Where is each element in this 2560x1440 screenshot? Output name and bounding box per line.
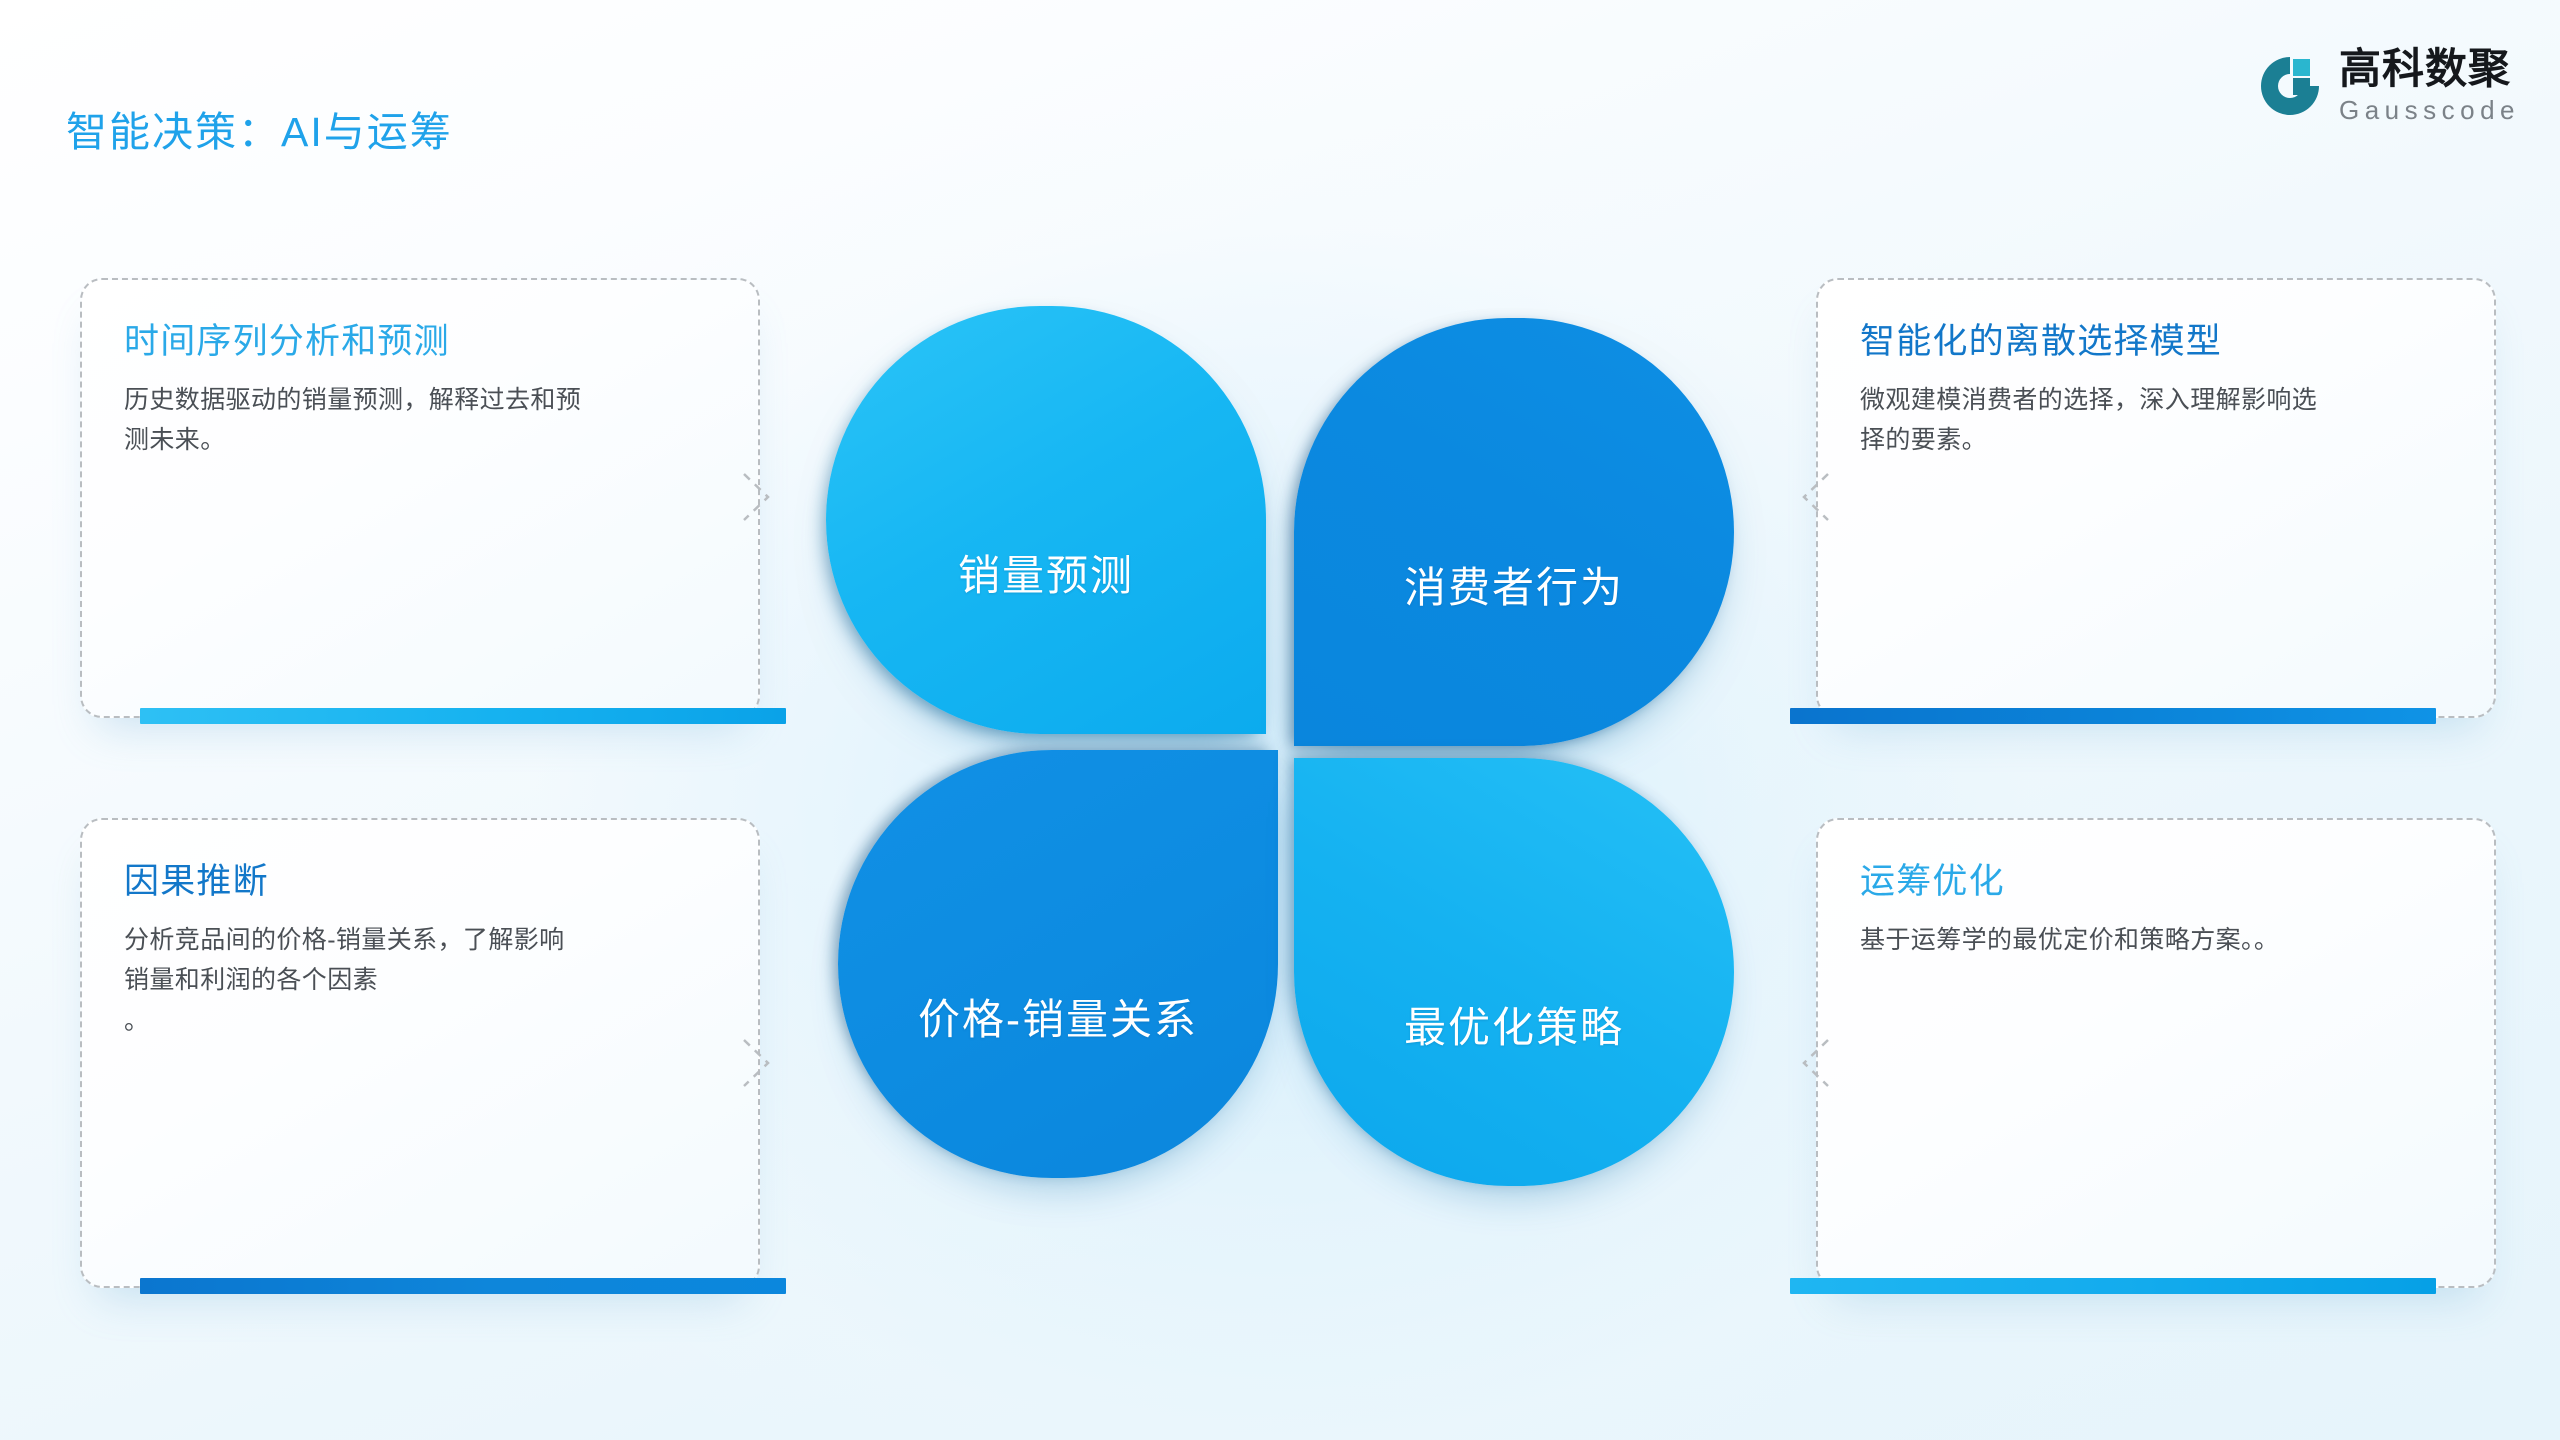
card-title: 因果推断 (124, 860, 716, 904)
petal-consumer-behavior[interactable]: 消费者行为 (1294, 318, 1734, 746)
card-body: 微观建模消费者的选择，深入理解影响选 择的要素。 (1860, 380, 2452, 461)
card-title: 时间序列分析和预测 (124, 320, 716, 364)
petal-optimization-strategy[interactable]: 最优化策略 (1294, 758, 1734, 1186)
card-body: 基于运筹学的最优定价和策略方案。。 (1860, 920, 2452, 961)
petal-sales-forecast[interactable]: 销量预测 (826, 306, 1266, 734)
card-accent-bar (140, 708, 786, 724)
card-title: 运筹优化 (1860, 860, 2452, 904)
feature-card-top-left[interactable]: 时间序列分析和预测 历史数据驱动的销量预测，解释过去和预 测未来。 (80, 278, 760, 718)
petal-price-sales-relation[interactable]: 价格-销量关系 (838, 750, 1278, 1178)
petal-label: 消费者行为 (1404, 554, 1624, 615)
petal-label: 销量预测 (958, 542, 1134, 603)
card-title: 智能化的离散选择模型 (1860, 320, 2452, 364)
feature-card-top-right[interactable]: 智能化的离散选择模型 微观建模消费者的选择，深入理解影响选 择的要素。 (1816, 278, 2496, 718)
brand-name-cn: 高科数聚 (2339, 48, 2520, 90)
petal-label: 最优化策略 (1404, 994, 1624, 1055)
card-body: 分析竞品间的价格-销量关系，了解影响 销量和利润的各个因素 。 (124, 920, 716, 1042)
petal-label: 价格-销量关系 (918, 986, 1198, 1047)
slide-canvas: 智能决策：AI与运筹 高科数聚 Gausscode 时间序列分析和预测 历史数据… (0, 0, 2560, 1440)
brand-logo-text: 高科数聚 Gausscode (2339, 48, 2520, 123)
brand-logo: 高科数聚 Gausscode (2257, 48, 2520, 123)
card-accent-bar (140, 1278, 786, 1294)
card-body: 历史数据驱动的销量预测，解释过去和预 测未来。 (124, 380, 716, 461)
feature-card-bottom-right[interactable]: 运筹优化 基于运筹学的最优定价和策略方案。。 (1816, 818, 2496, 1288)
feature-card-bottom-left[interactable]: 因果推断 分析竞品间的价格-销量关系，了解影响 销量和利润的各个因素 。 (80, 818, 760, 1288)
flower-diagram: 销量预测 消费者行为 价格-销量关系 最优化策略 (826, 306, 1734, 1186)
gausscode-g-logo-icon (2257, 53, 2323, 119)
brand-name-en: Gausscode (2339, 97, 2520, 123)
card-accent-bar (1790, 1278, 2436, 1294)
page-title: 智能决策：AI与运筹 (66, 98, 453, 158)
card-accent-bar (1790, 708, 2436, 724)
